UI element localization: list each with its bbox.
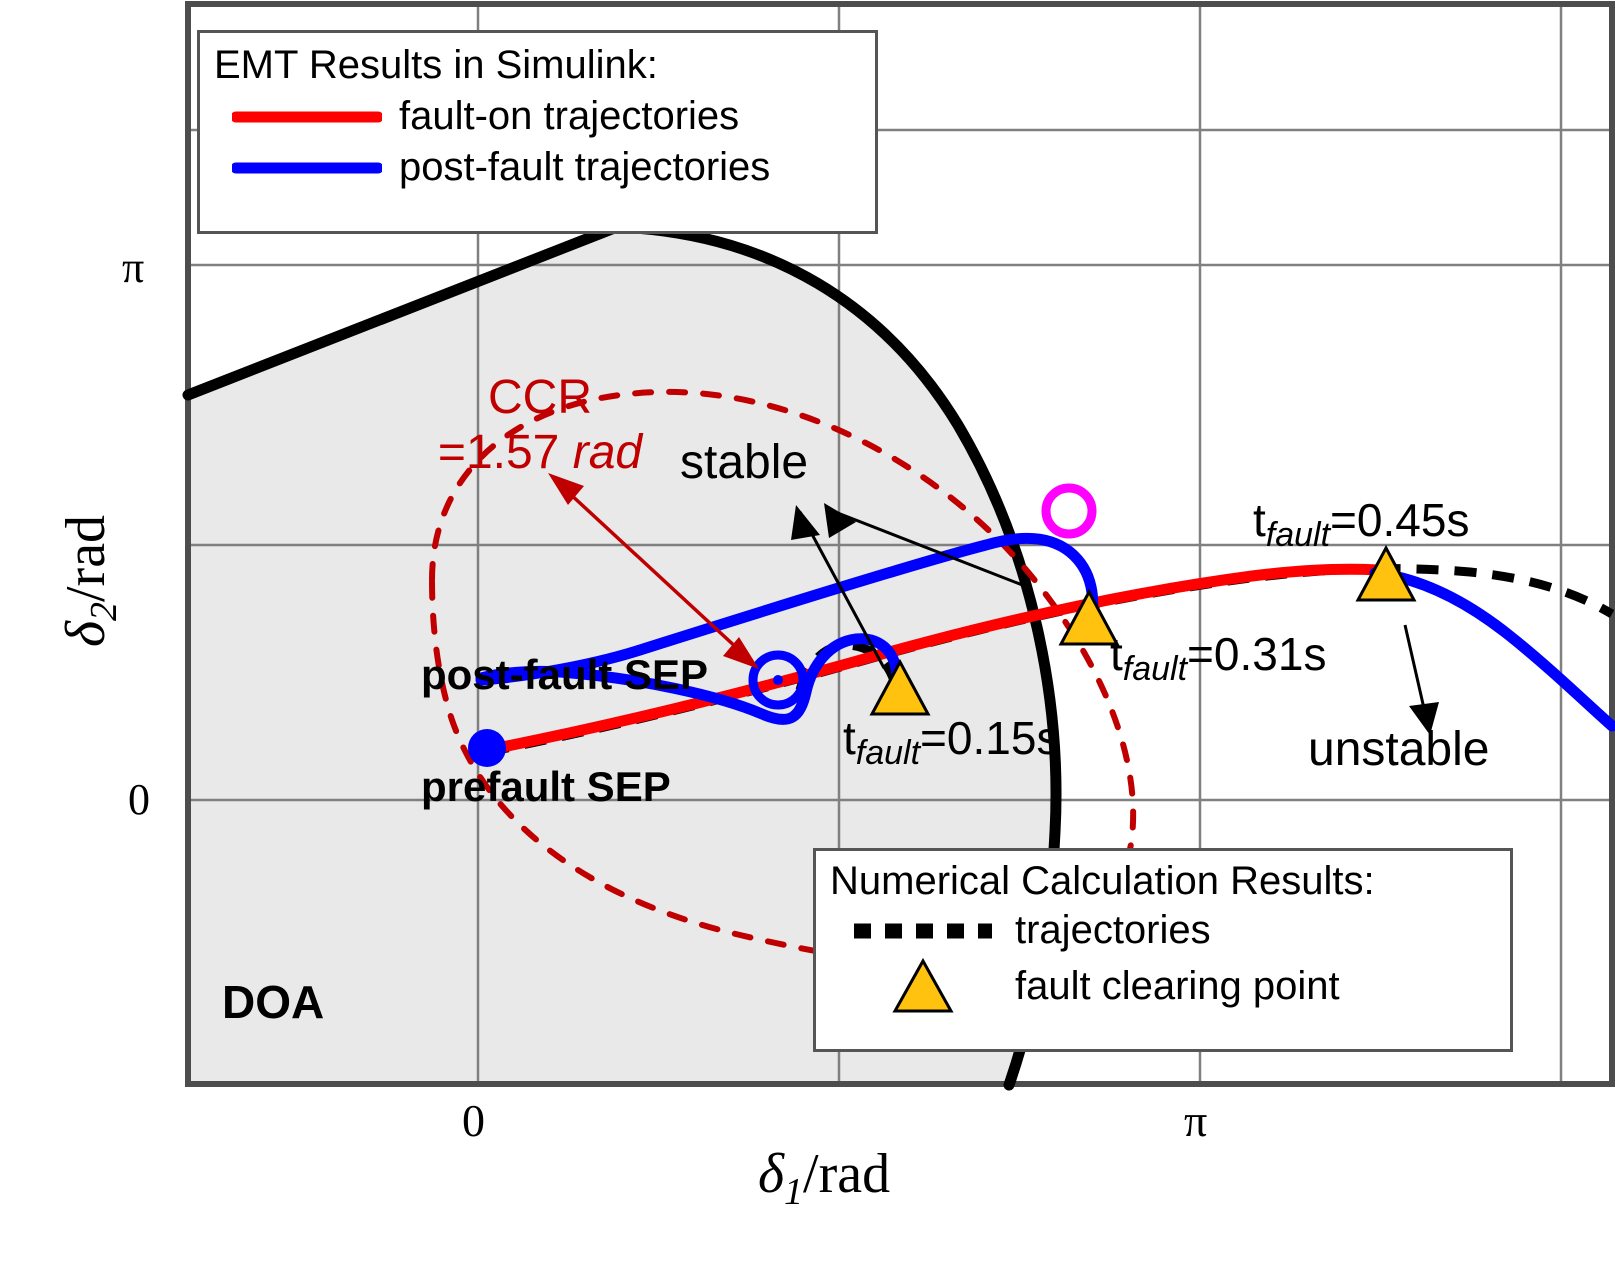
- chart-canvas: π 0 0 π δ1/rad δ2/rad CCR =1.57 rad stab…: [0, 0, 1615, 1275]
- post-fault-line-swatch: [214, 158, 399, 178]
- legend-numerical-title: Numerical Calculation Results:: [830, 859, 1510, 904]
- legend-emt-label-fault-on: fault-on trajectories: [399, 94, 739, 139]
- unstable-annotation: unstable: [1308, 722, 1489, 777]
- legend-numerical-row-clearing-point: fault clearing point: [830, 955, 1510, 1017]
- legend-emt-row-post-fault: post-fault trajectories: [214, 145, 875, 190]
- clearing-point-triangle-swatch: [830, 955, 1015, 1017]
- ccr-annotation: CCR =1.57 rad: [420, 370, 660, 480]
- legend-numerical-results: Numerical Calculation Results: trajector…: [813, 848, 1513, 1052]
- y-axis-tick-pi: π: [122, 242, 144, 293]
- legend-emt-title: EMT Results in Simulink:: [214, 43, 875, 88]
- legend-emt-label-post-fault: post-fault trajectories: [399, 145, 770, 190]
- t-fault-045-annotation: tfault=0.45s: [1253, 493, 1469, 555]
- legend-numerical-label-clearing-point: fault clearing point: [1015, 964, 1340, 1009]
- legend-numerical-label-trajectories: trajectories: [1015, 908, 1211, 953]
- post-fault-sep-annotation: post-fault SEP: [421, 651, 708, 699]
- x-axis-tick-pi: π: [1184, 1094, 1207, 1147]
- dashed-line-swatch: [830, 920, 1015, 942]
- legend-numerical-row-trajectories: trajectories: [830, 908, 1510, 953]
- x-axis-title: δ1/rad: [758, 1142, 890, 1214]
- stable-annotation: stable: [680, 435, 808, 490]
- uep-marker: [1046, 488, 1092, 534]
- ccr-label-line1: CCR: [420, 370, 660, 425]
- prefault-sep-annotation: prefault SEP: [421, 763, 671, 811]
- x-axis-tick-0: 0: [462, 1094, 485, 1147]
- prefault-sep-marker: [468, 729, 506, 767]
- legend-emt-results: EMT Results in Simulink: fault-on trajec…: [197, 30, 878, 234]
- fault-on-line-swatch: [214, 107, 399, 127]
- legend-emt-row-fault-on: fault-on trajectories: [214, 94, 875, 139]
- t-fault-015-annotation: tfault=0.15s: [843, 711, 1059, 773]
- ccr-label-line2: =1.57 rad: [420, 425, 660, 480]
- t-fault-031-annotation: tfault=0.31s: [1110, 627, 1326, 689]
- doa-annotation: DOA: [222, 975, 324, 1029]
- y-axis-title: δ2/rad: [54, 431, 126, 731]
- y-axis-tick-0: 0: [128, 774, 150, 825]
